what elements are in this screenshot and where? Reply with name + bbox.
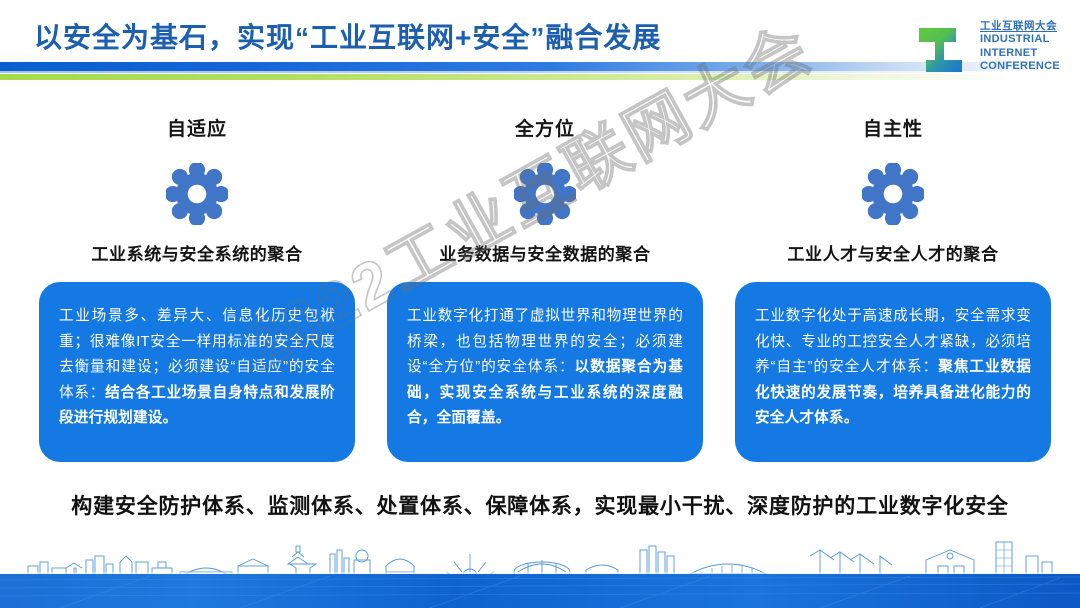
logo-text-cn: 工业互联网大会: [980, 19, 1072, 33]
footer-band-graphic: [0, 574, 1080, 608]
gear-icon: [862, 163, 924, 225]
slide-header: 以安全为基石，实现“工业互联网+安全”融合发展 工业互联网大会: [0, 0, 1080, 88]
gear-icon: [514, 163, 576, 225]
pillar-card-2: 工业数字化打通了虚拟世界和物理世界的桥梁，也包括物理世界的安全；必须建设“全方位…: [387, 282, 703, 462]
pillar-kicker-1: 自适应: [37, 118, 357, 142]
divider-blue-bar: [0, 62, 1060, 71]
pillar-subtitle-2: 业务数据与安全数据的聚合: [385, 244, 705, 266]
slide-canvas: 以安全为基石，实现“工业互联网+安全”融合发展 工业互联网大会: [0, 0, 1080, 608]
pillar-column-3: 自主性 工业人才与安全人才的聚合: [733, 118, 1053, 266]
city-skyline-icon: [0, 532, 1080, 578]
logo-mark-icon: [916, 20, 972, 76]
pillar-card-text-2: 工业数字化打通了虚拟世界和物理世界的桥梁，也包括物理世界的安全；必须建设“全方位…: [407, 304, 683, 432]
summary-statement: 构建安全防护体系、监测体系、处置体系、保障体系，实现最小干扰、深度防护的工业数字…: [0, 490, 1080, 520]
pillar-card-1: 工业场景多、差异大、信息化历史包袱重；很难像IT安全一样用标准的安全尺度去衡量和…: [39, 282, 355, 462]
slide-footer: [0, 536, 1080, 608]
logo-text-en-1: INDUSTRIAL: [980, 33, 1072, 47]
pillar-kicker-3: 自主性: [733, 118, 1053, 142]
pillar-card-text-1: 工业场景多、差异大、信息化历史包袱重；很难像IT安全一样用标准的安全尺度去衡量和…: [59, 304, 335, 432]
logo-text-en-3: CONFERENCE: [980, 60, 1072, 74]
pillar-icon-wrap-1: [37, 158, 357, 230]
pillar-column-2: 全方位 业务数据与安全数据的聚合: [385, 118, 705, 266]
gear-icon: [166, 163, 228, 225]
conference-logo: 工业互联网大会 INDUSTRIAL INTERNET CONFERENCE: [916, 18, 1068, 82]
pillar-icon-wrap-3: [733, 158, 1053, 230]
pillar-column-1: 自适应 工业系统与安全系统的聚合: [37, 118, 357, 266]
pillar-kicker-2: 全方位: [385, 118, 705, 142]
logo-wordmark: 工业互联网大会 INDUSTRIAL INTERNET CONFERENCE: [980, 19, 1072, 74]
footer-gradient-band: [0, 574, 1080, 608]
pillar-card-text-3: 工业数字化处于高速成长期，安全需求变化快、专业的工控安全人才紧缺，必须培养“自主…: [755, 304, 1031, 432]
pillar-subtitle-3: 工业人才与安全人才的聚合: [733, 244, 1053, 266]
page-title: 以安全为基石，实现“工业互联网+安全”融合发展: [34, 16, 661, 56]
pillar-card-3: 工业数字化处于高速成长期，安全需求变化快、专业的工控安全人才紧缺，必须培养“自主…: [735, 282, 1051, 462]
pillar-icon-wrap-2: [385, 158, 705, 230]
divider-blue-thin-bar: [0, 71, 1060, 73]
divider-green-bar: [0, 74, 1060, 80]
pillar-subtitle-1: 工业系统与安全系统的聚合: [37, 244, 357, 266]
logo-text-en-2: INTERNET: [980, 47, 1072, 61]
